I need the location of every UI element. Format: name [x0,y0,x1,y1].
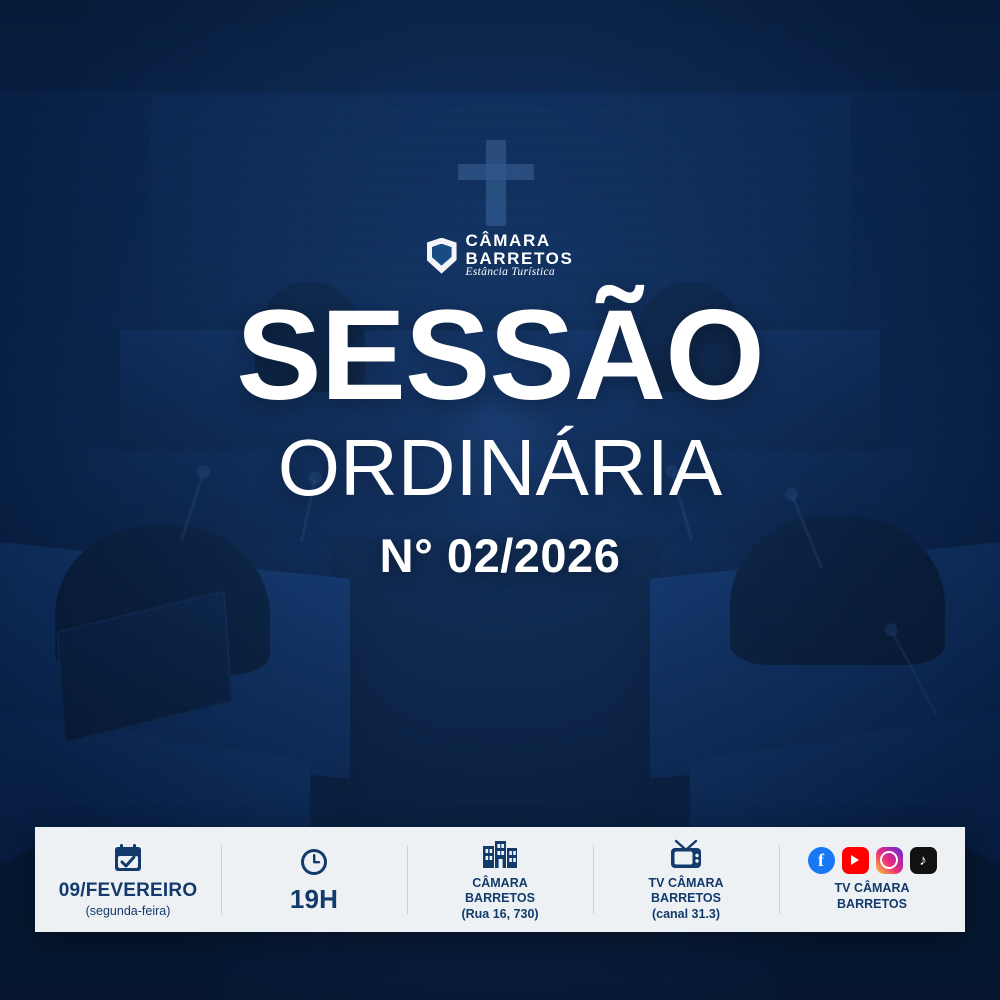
calendar-check-icon [112,841,144,875]
logo-text-block: CÂMARA BARRETOS Estância Turística [466,232,574,279]
time-value: 19H [290,884,338,915]
television-icon [668,837,704,871]
session-announcement-poster: CÂMARA BARRETOS Estância Turística SESSÃ… [0,0,1000,1000]
tv-line-1: TV CÂMARA [649,876,724,892]
building-icon [481,837,519,871]
info-cell-social: f ♪ TV CÂMARA BARRETOS [779,827,965,932]
info-cell-tv: TV CÂMARA BARRETOS (canal 31.3) [593,827,779,932]
place-address: (Rua 16, 730) [461,907,538,923]
info-cell-time: 19H [221,827,407,932]
instagram-icon[interactable] [876,847,903,874]
place-line-1: CÂMARA [472,876,528,892]
camara-barretos-logo: CÂMARA BARRETOS Estância Turística [0,232,1000,279]
headline-main: SESSÃO [0,292,1000,420]
tv-line-2: BARRETOS [651,891,721,907]
social-line-2: BARRETOS [837,897,907,913]
info-cell-place: CÂMARA BARRETOS (Rua 16, 730) [407,827,593,932]
info-cell-date: 09/FEVEREIRO (segunda-feira) [35,827,221,932]
tiktok-icon[interactable]: ♪ [910,847,937,874]
social-line-1: TV CÂMARA [835,881,910,897]
headline-block: SESSÃO ORDINÁRIA N° 02/2026 [0,292,1000,583]
clock-icon [298,845,330,879]
headline-sub: ORDINÁRIA [0,426,1000,510]
logo-line-3: Estância Turística [466,267,574,279]
tv-channel: (canal 31.3) [652,907,720,923]
facebook-icon[interactable]: f [808,847,835,874]
date-value: 09/FEVEREIRO [59,880,198,902]
coat-of-arms-icon [427,238,457,274]
place-line-2: BARRETOS [465,891,535,907]
info-bar: 09/FEVEREIRO (segunda-feira) 19H [35,827,965,932]
session-number: N° 02/2026 [0,528,1000,583]
youtube-icon[interactable] [842,847,869,874]
weekday-value: (segunda-feira) [86,904,171,918]
logo-line-2: BARRETOS [466,250,574,268]
social-icon-row: f ♪ [808,847,937,874]
logo-line-1: CÂMARA [466,232,574,250]
